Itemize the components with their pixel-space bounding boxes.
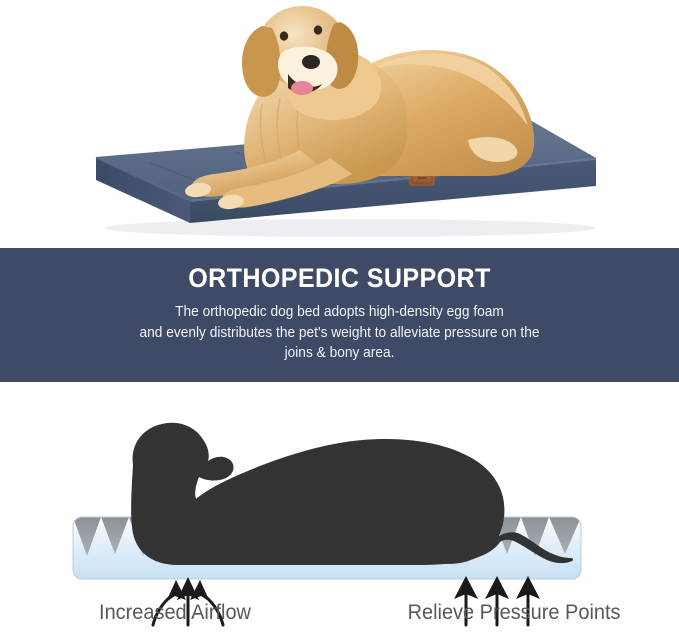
- foam-diagram-section: [0, 382, 679, 633]
- caption-relieve-pressure-points: Relieve Pressure Points: [349, 598, 671, 633]
- product-photo-section: [0, 0, 679, 248]
- bed-shadow: [104, 219, 596, 237]
- caption-increased-airflow: Increased Airflow: [9, 598, 332, 633]
- banner-subtitle-line-3: joins & bony area.: [20, 343, 658, 364]
- banner-subtitle-line-2: and evenly distributes the pet's weight …: [20, 323, 658, 344]
- dog-tongue: [291, 81, 313, 95]
- orthopedic-support-banner: ORTHOPEDIC SUPPORT The orthopedic dog be…: [0, 248, 679, 382]
- dog-eye-right: [314, 25, 322, 34]
- dog-eye-left: [280, 31, 288, 40]
- banner-title: ORTHOPEDIC SUPPORT: [24, 261, 655, 295]
- product-photo: [0, 0, 679, 248]
- diagram-captions: Increased Airflow Relieve Pressure Point…: [0, 598, 679, 633]
- dog-nose: [302, 55, 320, 69]
- foam-diagram: [0, 382, 679, 633]
- banner-subtitle-line-1: The orthopedic dog bed adopts high-densi…: [20, 302, 658, 323]
- banner-subtitle: The orthopedic dog bed adopts high-densi…: [20, 302, 658, 364]
